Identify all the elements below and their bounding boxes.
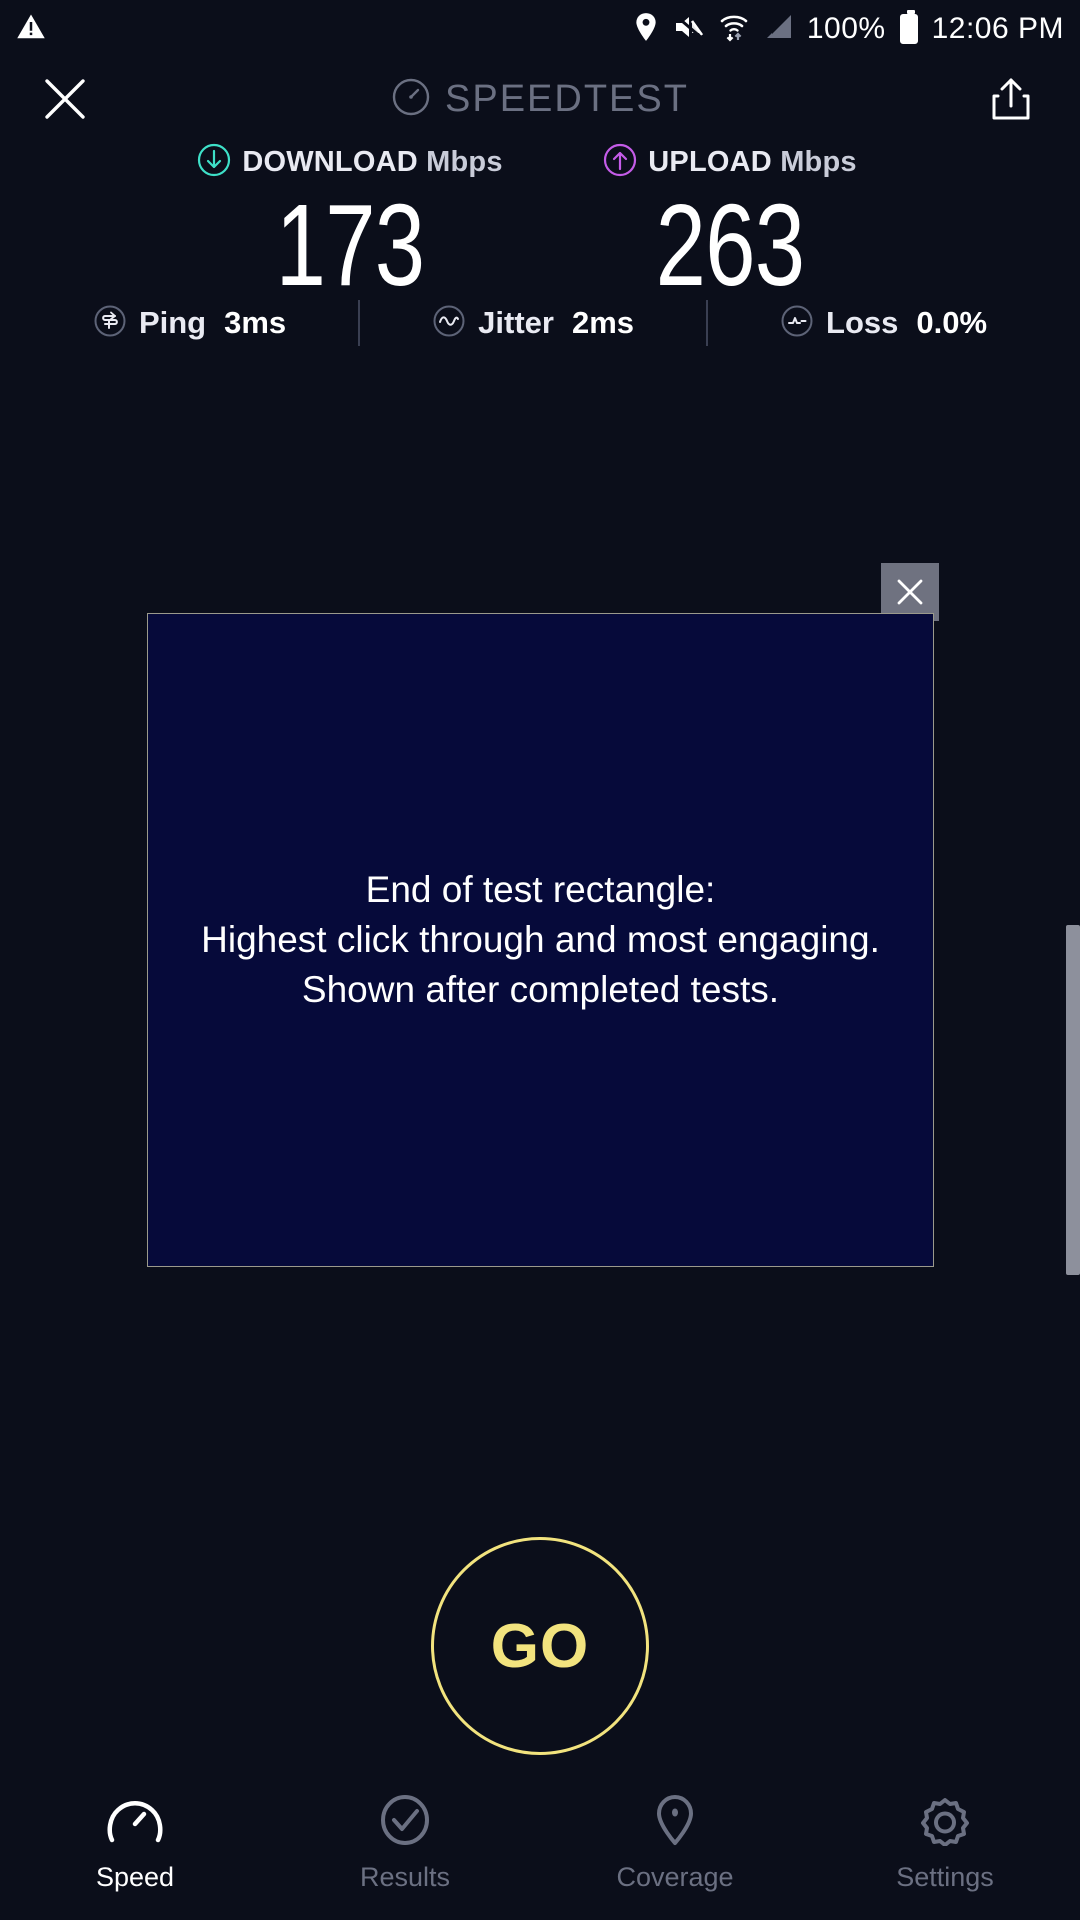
speedtest-app-screen: 100% 12:06 PM SPEEDTEST — [0, 0, 1080, 1920]
speedometer-icon — [106, 1788, 164, 1846]
nav-item-speed[interactable]: Speed — [0, 1788, 270, 1893]
upload-label: UPLOAD Mbps — [648, 146, 856, 179]
download-metric: DOWNLOAD Mbps 173 — [160, 140, 540, 304]
location-pin-icon — [633, 12, 659, 47]
loss-value: 0.0% — [916, 305, 987, 341]
ping-value: 3ms — [224, 305, 286, 341]
ping-icon — [93, 304, 127, 343]
close-button[interactable] — [38, 72, 92, 126]
share-button[interactable] — [984, 72, 1038, 126]
status-bar-left — [16, 12, 46, 47]
status-bar-right: 100% 12:06 PM — [633, 12, 1064, 47]
divider-2 — [706, 300, 708, 346]
upload-label-row: UPLOAD Mbps — [540, 140, 920, 184]
status-bar: 100% 12:06 PM — [0, 0, 1080, 58]
nav-item-results[interactable]: Results — [270, 1788, 540, 1893]
download-label-row: DOWNLOAD Mbps — [160, 140, 540, 184]
download-label: DOWNLOAD Mbps — [242, 146, 502, 179]
download-value: 173 — [202, 186, 498, 304]
jitter-icon — [432, 304, 466, 343]
status-bar-clock: 12:06 PM — [932, 12, 1064, 46]
ad-banner[interactable]: End of test rectangle: Highest click thr… — [147, 613, 934, 1267]
upload-value: 263 — [582, 186, 878, 304]
ping-metric: Ping 3ms — [67, 304, 312, 343]
speedometer-icon — [391, 77, 431, 122]
ad-line-1: End of test rectangle: — [201, 865, 880, 915]
battery-percent-label: 100% — [807, 12, 886, 46]
nav-item-coverage[interactable]: Coverage — [540, 1788, 810, 1893]
ad-line-2: Highest click through and most engaging. — [201, 915, 880, 965]
nav-label-coverage: Coverage — [616, 1862, 733, 1893]
cellular-signal-icon — [763, 13, 793, 46]
ad-line-3: Shown after completed tests. — [201, 965, 880, 1015]
ping-label: Ping — [139, 305, 206, 341]
location-pin-icon — [646, 1788, 704, 1846]
arrow-up-circle-icon — [603, 143, 637, 182]
go-button-label: GO — [491, 1611, 589, 1682]
volume-muted-icon — [673, 13, 705, 46]
jitter-metric: Jitter 2ms — [406, 304, 660, 343]
page-title: SPEEDTEST — [445, 78, 689, 121]
gear-icon — [916, 1788, 974, 1846]
arrow-down-circle-icon — [197, 143, 231, 182]
wifi-transfer-icon — [719, 12, 749, 47]
app-title-group: SPEEDTEST — [0, 77, 1080, 122]
divider — [358, 300, 360, 346]
bottom-navigation: Speed Results Coverage — [0, 1760, 1080, 1920]
warning-triangle-icon — [16, 12, 46, 47]
nav-label-speed: Speed — [96, 1862, 174, 1893]
ping-jitter-loss-row: Ping 3ms Jitter 2ms — [0, 300, 1080, 346]
scrollbar[interactable] — [1066, 925, 1080, 1275]
jitter-value: 2ms — [572, 305, 634, 341]
nav-label-results: Results — [360, 1862, 450, 1893]
jitter-label: Jitter — [478, 305, 554, 341]
loss-metric: Loss 0.0% — [754, 304, 1013, 343]
battery-full-icon — [900, 14, 918, 44]
go-button[interactable]: GO — [431, 1537, 649, 1755]
upload-metric: UPLOAD Mbps 263 — [540, 140, 920, 304]
nav-label-settings: Settings — [896, 1862, 994, 1893]
check-circle-icon — [376, 1788, 434, 1846]
loss-label: Loss — [826, 305, 898, 341]
nav-item-settings[interactable]: Settings — [810, 1788, 1080, 1893]
app-bar: SPEEDTEST — [0, 58, 1080, 140]
results-summary: DOWNLOAD Mbps 173 UPLOAD Mbps 263 — [0, 140, 1080, 304]
loss-icon — [780, 304, 814, 343]
ad-text: End of test rectangle: Highest click thr… — [189, 865, 892, 1015]
download-upload-row: DOWNLOAD Mbps 173 UPLOAD Mbps 263 — [0, 140, 1080, 304]
